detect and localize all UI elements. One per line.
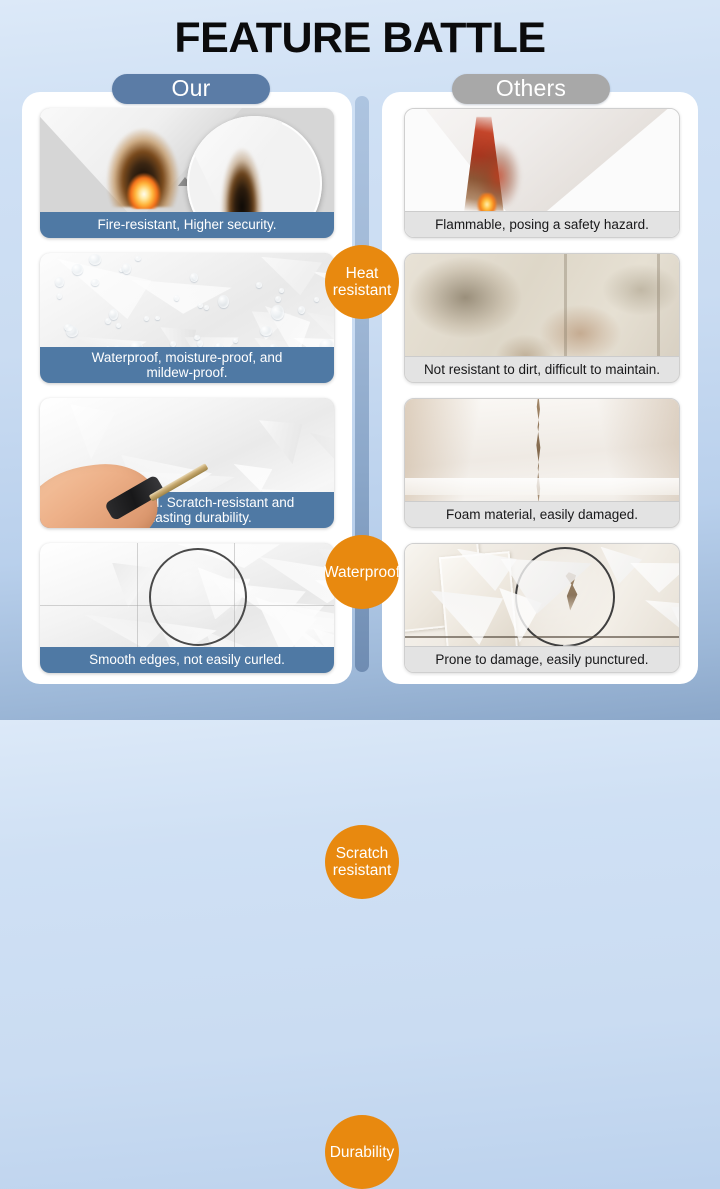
water-droplet [298,306,305,314]
our-feature-panel: PVC material. Scratch-resistant and long… [40,398,334,528]
water-droplet [279,288,284,293]
water-droplet [55,277,63,287]
caption-line-2: mildew-proof. [46,365,328,380]
panel-facet [254,420,302,464]
page-title: FEATURE BATTLE [0,14,720,63]
caption-line-1: Waterproof, moisture-proof, and [46,350,328,365]
others-feature-caption: Flammable, posing a safety hazard. [405,211,679,237]
water-droplet [233,338,238,343]
feature-badge-label: Waterproof [322,564,402,581]
column-header-our: Our [112,74,270,104]
others-feature-panel: Prone to damage, easily punctured. [404,543,680,673]
water-droplet [314,297,319,302]
water-droplet [116,323,122,329]
water-droplet [256,282,262,287]
others-feature-panel: Flammable, posing a safety hazard. [404,108,680,238]
water-droplet [122,263,131,274]
panel-facet [129,280,232,314]
feature-badge-label: Durability [328,1144,397,1161]
water-droplet [170,341,176,347]
water-droplet [135,256,141,261]
our-feature-panel: Waterproof, moisture-proof, and mildew-p… [40,253,334,383]
water-droplet [190,273,198,282]
water-droplet [197,340,203,347]
water-droplet [91,279,98,286]
water-droplet [155,316,160,320]
water-droplet [66,326,78,337]
water-droplet [260,326,271,336]
water-droplet [109,309,118,320]
panel-facet [48,259,151,319]
water-droplet [144,316,149,322]
feature-badge: Scratch resistant [325,825,399,899]
our-feature-caption: Fire-resistant, Higher security. [40,212,334,238]
water-droplet [57,293,62,298]
water-droplet [174,295,179,301]
water-droplet [204,305,209,310]
feature-badge-label: Scratch resistant [325,845,399,879]
water-droplet [198,303,203,307]
panel-facet [69,404,115,459]
others-feature-caption: Prone to damage, easily punctured. [405,646,679,672]
water-droplet [275,296,281,302]
our-feature-caption: Smooth edges, not easily curled. [40,647,334,673]
others-feature-caption: Not resistant to dirt, difficult to main… [405,356,679,382]
feature-badge: Waterproof [325,535,399,609]
feature-badge-label: Heat resistant [325,265,399,299]
others-feature-panel: Foam material, easily damaged. [404,398,680,528]
our-feature-panel: Smooth edges, not easily curled. [40,543,334,673]
water-droplet [218,295,229,308]
our-feature-caption: Waterproof, moisture-proof, and mildew-p… [40,347,334,383]
our-feature-panel: Fire-resistant, Higher security. [40,108,334,238]
panel-facet [98,563,154,608]
others-feature-panel: Not resistant to dirt, difficult to main… [404,253,680,383]
water-droplet [72,264,83,275]
feature-badge: Heat resistant [325,245,399,319]
column-header-others: Others [452,74,610,104]
others-feature-caption: Foam material, easily damaged. [405,501,679,527]
water-droplet [194,335,200,340]
panel-facet [303,433,335,482]
feature-badge: Durability [325,1115,399,1189]
panel-facet [645,600,679,636]
panel-facet [68,615,168,649]
water-droplet [89,254,102,265]
water-droplet [105,318,111,324]
water-droplet [271,305,284,321]
